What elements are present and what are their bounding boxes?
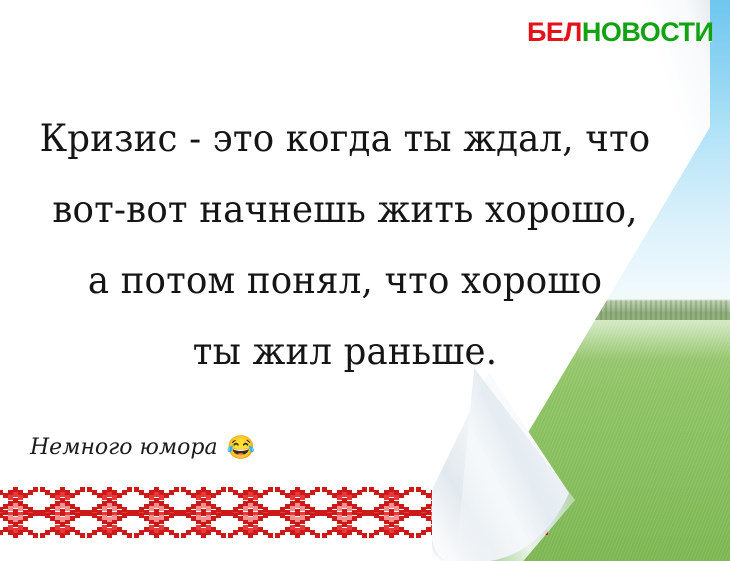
quote-block: Кризис - это когда ты ждал, что вот-вот …	[0, 103, 690, 387]
logo-text-green: НОВОСТИ	[582, 17, 714, 47]
laughing-emoji-icon: 😂	[227, 436, 256, 459]
quote-line-4: ты жил раньше.	[14, 316, 676, 387]
logo-text-red: БЕЛ	[527, 17, 582, 47]
quote-line-2: вот-вот начнешь жить хорошо,	[14, 174, 676, 245]
quote-line-1: Кризис - это когда ты ждал, что	[14, 103, 676, 174]
belnovosti-logo[interactable]: БЕЛНОВОСТИ	[527, 17, 713, 48]
caption-text: Немного юмора	[30, 435, 218, 460]
caption-block: Немного юмора 😂	[30, 435, 255, 460]
humor-card-image: БЕЛНОВОСТИ Кризис - это когда ты ждал, ч…	[0, 0, 730, 561]
quote-line-3: а потом понял, что хорошо	[14, 245, 676, 316]
